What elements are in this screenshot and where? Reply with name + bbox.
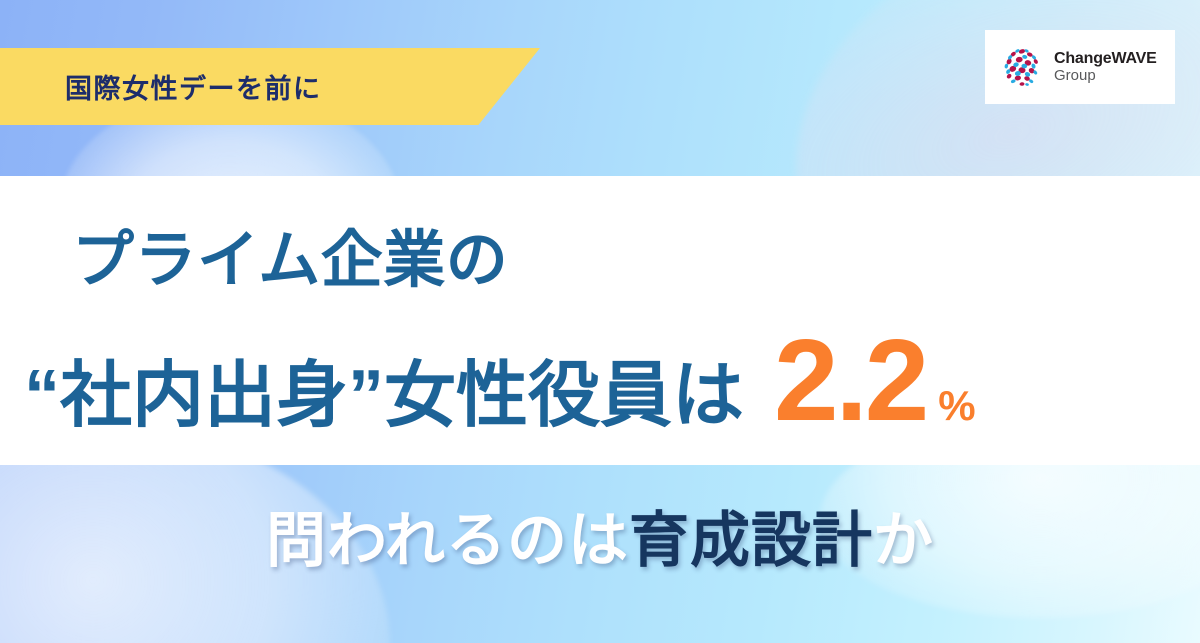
infographic-canvas: 国際女性デーを前に (0, 0, 1200, 643)
subtitle-part-3: か (873, 507, 934, 574)
subtitle-part-1: 問われるのは (266, 507, 629, 574)
eyebrow-label: 国際女性デーを前に (65, 67, 322, 106)
subtitle-part-2: 育成設計 (629, 507, 873, 574)
stat-unit: % (938, 385, 975, 427)
brand-logo-card: ChangeWAVE Group (985, 30, 1175, 104)
brand-logo-wordmark: ChangeWAVE Group (1054, 51, 1157, 84)
changewave-sphere-logo-icon (999, 44, 1045, 90)
headline-quoted-term: “社内出身” (24, 360, 384, 432)
headline-line-2-rest: 女性役員は (384, 360, 744, 432)
stat-value: 2.2 (774, 322, 926, 438)
brand-name: ChangeWAVE (1054, 51, 1157, 68)
headline-line-2: “社内出身” 女性役員は 2.2 % (24, 322, 976, 438)
eyebrow-ribbon: 国際女性デーを前に (0, 48, 540, 125)
brand-subname: Group (1054, 68, 1157, 84)
subtitle: 問われるのは育成設計か (0, 492, 1200, 579)
headline-line-1: プライム企業の (72, 209, 508, 299)
